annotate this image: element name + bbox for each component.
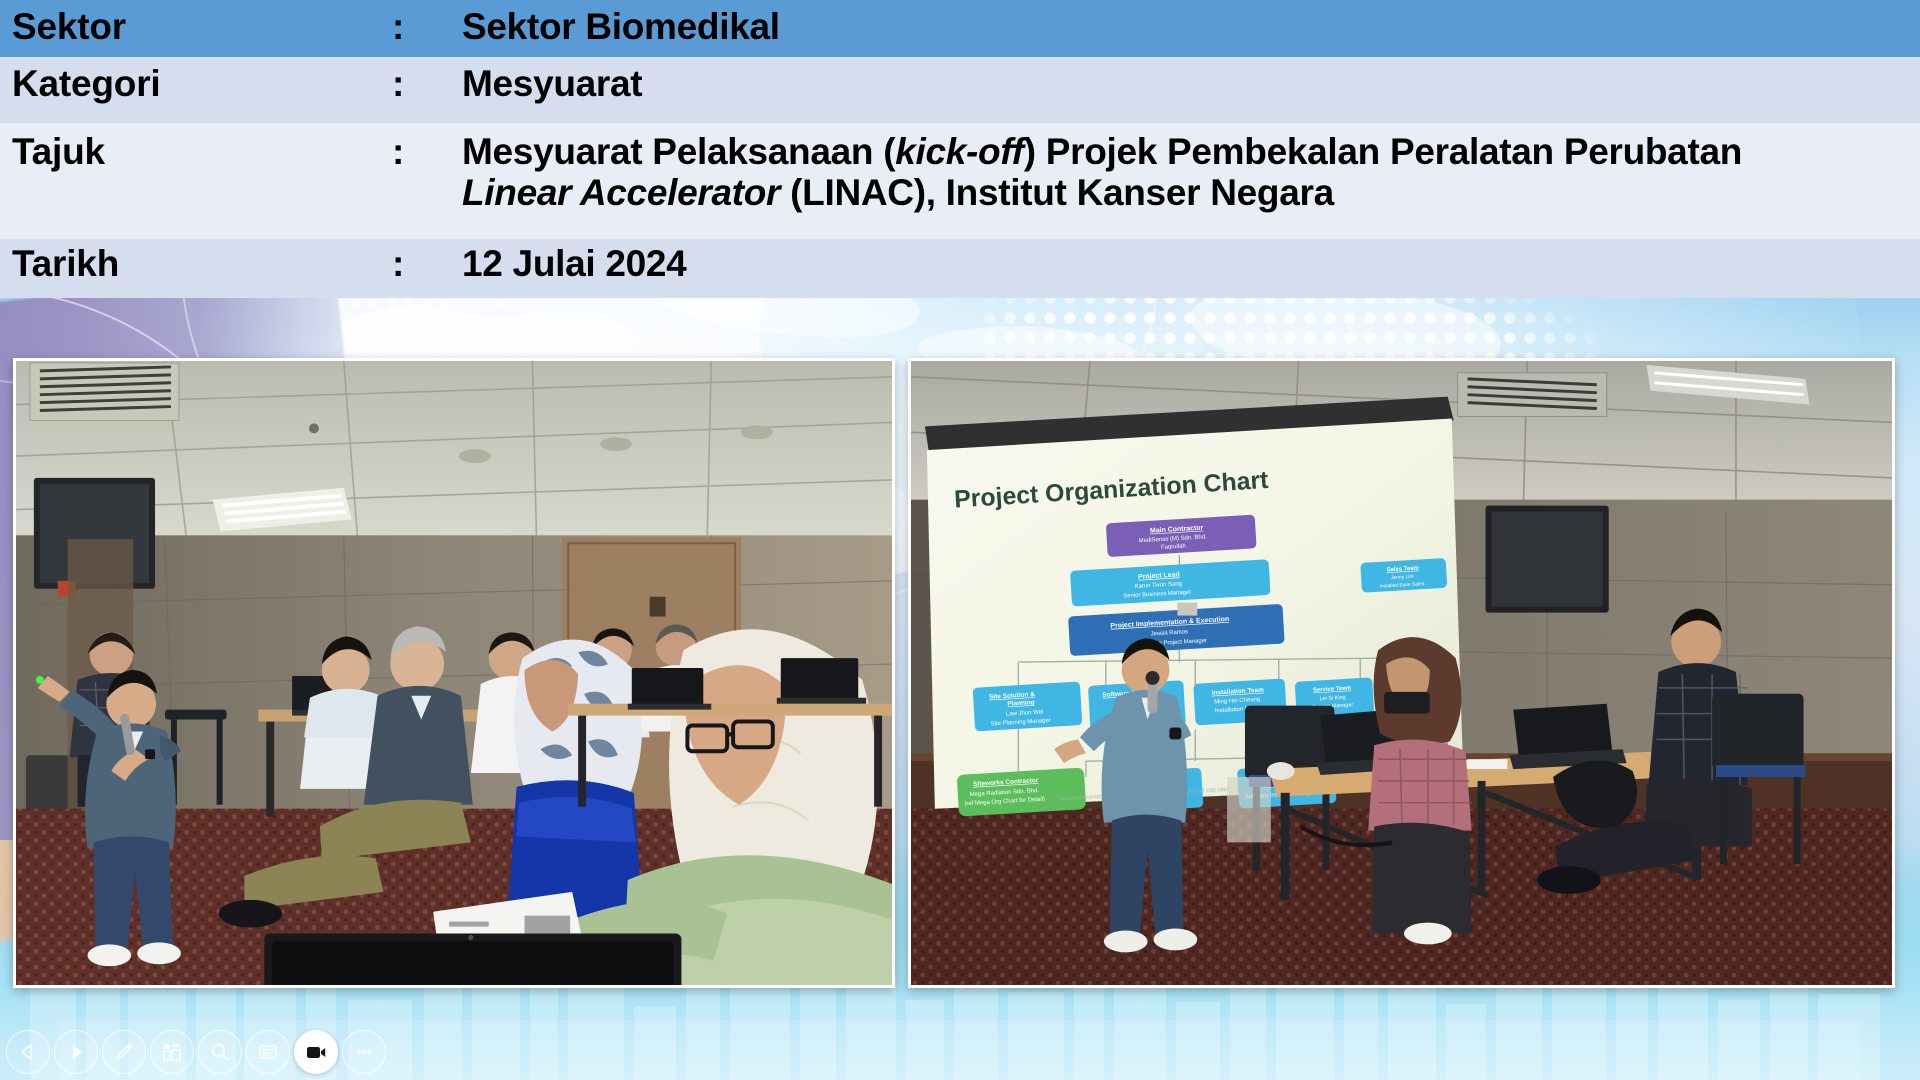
info-label-tarikh: Tarikh — [12, 239, 392, 284]
info-row-tajuk: Tajuk : Mesyuarat Pelaksanaan (kick-off)… — [0, 123, 1920, 239]
next-slide-button[interactable] — [54, 1030, 98, 1074]
video-camera-icon — [304, 1040, 328, 1064]
tajuk-line2-italic: Linear Accelerator — [462, 172, 780, 213]
presentation-slide: Sektor : Sektor Biomedikal Kategori : Me… — [0, 0, 1920, 1080]
pen-icon — [113, 1041, 135, 1063]
tajuk-line1-part-b: ) Projek Pembekalan Peralatan Perubatan — [1024, 131, 1742, 172]
info-row-sektor: Sektor : Sektor Biomedikal — [0, 0, 1920, 57]
captions-icon — [257, 1041, 279, 1063]
info-value-kategori: Mesyuarat — [462, 57, 1920, 104]
info-row-kategori: Kategori : Mesyuarat — [0, 57, 1920, 123]
info-value-sektor: Sektor Biomedikal — [462, 0, 1920, 47]
pen-tool-button[interactable] — [102, 1030, 146, 1074]
camera-button[interactable] — [294, 1030, 338, 1074]
tajuk-line1-part-a: Mesyuarat Pelaksanaan ( — [462, 131, 895, 172]
triangle-right-icon — [66, 1042, 86, 1062]
photo-audience-image — [16, 361, 892, 985]
triangle-left-icon — [18, 1042, 38, 1062]
info-colon-tarikh: : — [392, 239, 462, 285]
info-colon-sektor: : — [392, 0, 462, 48]
info-row-tarikh: Tarikh : 12 Julai 2024 — [0, 239, 1920, 298]
tajuk-line2-part-b: (LINAC), Institut Kanser Negara — [780, 172, 1334, 213]
slide-info-table: Sektor : Sektor Biomedikal Kategori : Me… — [0, 0, 1920, 298]
info-value-tajuk: Mesyuarat Pelaksanaan (kick-off) Projek … — [462, 123, 1920, 214]
info-label-tajuk: Tajuk — [12, 123, 392, 172]
grid-icon — [161, 1041, 183, 1063]
photo-audience — [13, 358, 895, 988]
captions-button[interactable] — [246, 1030, 290, 1074]
ellipsis-icon — [353, 1041, 375, 1063]
presentation-toolbar[interactable] — [6, 1030, 386, 1074]
info-value-tarikh: 12 Julai 2024 — [462, 239, 1920, 284]
info-colon-kategori: : — [392, 57, 462, 105]
photo-presenter-image: Project Organization Chart — [911, 361, 1892, 985]
photo-presenter-with-screen: Project Organization Chart — [908, 358, 1895, 988]
tajuk-line1-italic: kick-off — [895, 131, 1024, 172]
previous-slide-button[interactable] — [6, 1030, 50, 1074]
magnifier-icon — [209, 1041, 231, 1063]
info-colon-tajuk: : — [392, 123, 462, 173]
more-options-button[interactable] — [342, 1030, 386, 1074]
all-slides-button[interactable] — [150, 1030, 194, 1074]
info-label-kategori: Kategori — [12, 57, 392, 104]
zoom-slide-button[interactable] — [198, 1030, 242, 1074]
info-label-sektor: Sektor — [12, 0, 392, 47]
